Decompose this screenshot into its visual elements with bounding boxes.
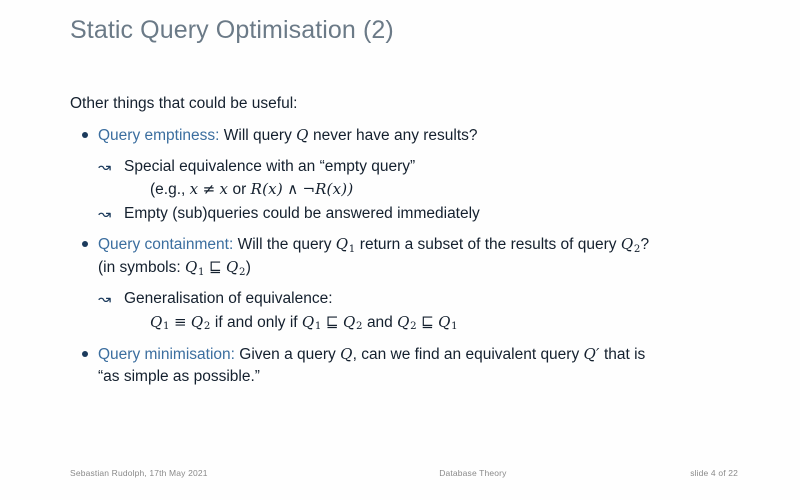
sub-list-item: ↝ Generalisation of equivalence: Q1 ≡ Q2…: [98, 287, 750, 334]
formula-neq-icon: ≠: [203, 180, 216, 198]
formula-x1: x: [190, 180, 199, 198]
math-q1-base: Q: [336, 235, 349, 253]
eq-q2-base: Q: [191, 313, 204, 331]
bullet-rest-2: , can we find an equivalent query: [353, 346, 580, 363]
intro-line: Other things that could be useful:: [70, 94, 750, 113]
bullet-text: Query emptiness: Will query Q never have…: [98, 125, 750, 147]
sub-list-item: ↝ Empty (sub)queries could be answered i…: [98, 202, 750, 225]
symbols-q2-base: Q: [226, 258, 239, 276]
slide-body: Other things that could be useful: Query…: [70, 94, 750, 391]
sub-bullet-text: Generalisation of equivalence:: [124, 290, 333, 307]
equivalent-icon: ≡: [174, 313, 187, 331]
symbols-q2-subscript: 2: [239, 267, 246, 278]
math-q1: Q1: [336, 235, 356, 253]
equivalence-formula: Q1 ≡ Q2 if and only if Q1 ⊑ Q2 and Q2 ⊑ …: [124, 311, 750, 335]
sub-bullet-list: ↝ Special equivalence with an “empty que…: [98, 155, 750, 226]
slide-canvas: Static Query Optimisation (2) Other thin…: [0, 0, 800, 500]
eq-q4: Q2: [343, 313, 363, 331]
sub-bullet-text: Special equivalence with an “empty query…: [124, 158, 415, 175]
symbols-suffix: ): [246, 259, 251, 276]
subset-eq-icon: ⊑: [421, 313, 434, 331]
list-item: Query emptiness: Will query Q never have…: [70, 125, 750, 225]
eq-q3-base: Q: [302, 313, 315, 331]
formula-r2: R(x)): [315, 180, 353, 198]
math-symbol-q-prime: Q′: [584, 345, 600, 363]
math-q2-base: Q: [621, 235, 634, 253]
sub-bullet-text: Empty (sub)queries could be answered imm…: [124, 205, 480, 222]
bullet-rest-after: never have any results?: [313, 127, 478, 144]
symbols-q1-subscript: 1: [198, 267, 205, 278]
sub-list-item: ↝ Special equivalence with an “empty que…: [98, 155, 750, 202]
sub-bullet-list: ↝ Generalisation of equivalence: Q1 ≡ Q2…: [98, 287, 750, 334]
formula-line: (e.g., x ≠ x or R(x) ∧ ¬R(x)): [124, 178, 750, 202]
wave-arrow-icon: ↝: [98, 203, 111, 226]
eq-q4-base: Q: [343, 313, 356, 331]
formula-or: or: [233, 181, 247, 198]
subset-eq-icon: ⊑: [209, 258, 222, 276]
bullet-term: Query minimisation:: [98, 346, 235, 363]
formula-and-icon: ∧: [287, 180, 298, 198]
math-q1-subscript: 1: [348, 244, 355, 255]
formula-x2: x: [220, 180, 229, 198]
bullet-text: Query containment: Will the query Q1 ret…: [98, 234, 750, 257]
symbols-prefix: (in symbols:: [98, 259, 181, 276]
eq-q3-subscript: 1: [314, 321, 321, 332]
formula-prefix: (e.g.,: [150, 181, 185, 198]
bullet-rest-2: return a subset of the results of query: [360, 236, 617, 253]
eq-q6-base: Q: [438, 313, 451, 331]
symbols-line: (in symbols: Q1 ⊑ Q2): [98, 257, 750, 280]
eq-q3: Q1: [302, 313, 322, 331]
bullet-dot-icon: [82, 132, 88, 138]
wave-arrow-icon: ↝: [98, 156, 111, 179]
math-q2-subscript: 2: [633, 244, 640, 255]
eq-q2: Q2: [191, 313, 211, 331]
eq-q1: Q1: [150, 313, 170, 331]
bullet-term: Query containment:: [98, 236, 233, 253]
eq-q5-base: Q: [397, 313, 410, 331]
bullet-rest-3: that is: [604, 346, 645, 363]
math-symbol-q: Q: [296, 126, 309, 144]
eq-q4-subscript: 2: [355, 321, 362, 332]
eq-and-text: and: [367, 314, 393, 331]
math-q2: Q2: [621, 235, 641, 253]
eq-q1-base: Q: [150, 313, 163, 331]
eq-q6-subscript: 1: [451, 321, 458, 332]
math-symbol-q: Q: [340, 345, 353, 363]
symbols-q2: Q2: [226, 258, 246, 276]
formula-not-icon: ¬: [302, 180, 315, 198]
bullet-dot-icon: [82, 241, 88, 247]
footer-course: Database Theory: [439, 468, 506, 478]
eq-q5-subscript: 2: [410, 321, 417, 332]
wave-arrow-icon: ↝: [98, 288, 111, 311]
page-title: Static Query Optimisation (2): [70, 16, 394, 45]
eq-q6: Q1: [438, 313, 458, 331]
bullet-rest-3: ?: [641, 236, 650, 253]
eq-iff-text: if and only if: [215, 314, 298, 331]
footer-slide-number: slide 4 of 22: [690, 468, 738, 478]
bullet-list: Query emptiness: Will query Q never have…: [70, 125, 750, 388]
list-item: Query minimisation: Given a query Q, can…: [70, 344, 750, 389]
symbols-q1-base: Q: [185, 258, 198, 276]
bullet-continuation: “as simple as possible.”: [98, 366, 750, 388]
slide-footer: Sebastian Rudolph, 17th May 2021 Databas…: [70, 468, 738, 478]
list-item: Query containment: Will the query Q1 ret…: [70, 234, 750, 334]
bullet-rest-1: Will the query: [238, 236, 332, 253]
eq-q2-subscript: 2: [203, 321, 210, 332]
footer-author: Sebastian Rudolph, 17th May 2021: [70, 468, 208, 478]
bullet-rest-before: Will query: [224, 127, 292, 144]
symbols-q1: Q1: [185, 258, 205, 276]
bullet-dot-icon: [82, 351, 88, 357]
subset-eq-icon: ⊑: [326, 313, 339, 331]
eq-q5: Q2: [397, 313, 417, 331]
formula-r1: R(x): [251, 180, 283, 198]
bullet-term: Query emptiness:: [98, 127, 219, 144]
bullet-text: Query minimisation: Given a query Q, can…: [98, 344, 750, 366]
bullet-rest-1: Given a query: [239, 346, 336, 363]
eq-q1-subscript: 1: [163, 321, 170, 332]
